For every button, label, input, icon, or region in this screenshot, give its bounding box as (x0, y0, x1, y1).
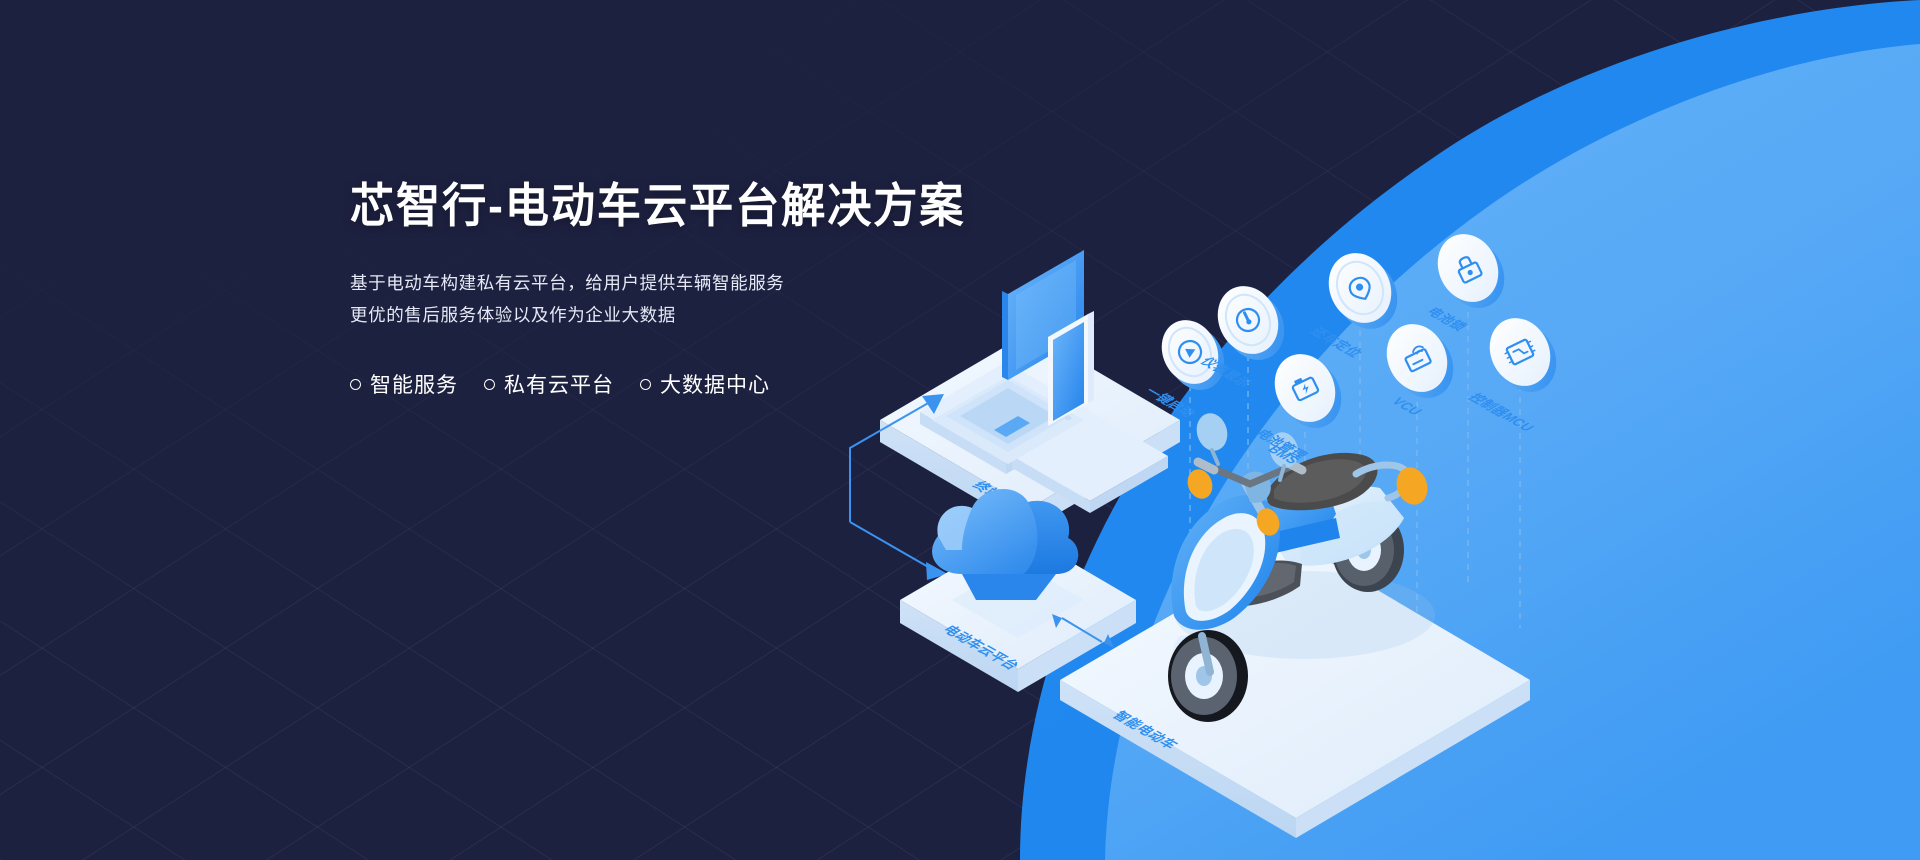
feature-item-smart-service[interactable]: 智能服务 (350, 369, 458, 399)
feature-label: 大数据中心 (660, 369, 770, 399)
circle-outline-icon (350, 379, 361, 390)
page-title: 芯智行-电动车云平台解决方案 (350, 180, 1064, 233)
feature-item-big-data-center[interactable]: 大数据中心 (640, 369, 770, 399)
feature-label: 私有云平台 (504, 369, 614, 399)
subtitle-block: 基于电动车构建私有云平台，给用户提供车辆智能服务 更优的售后服务体验以及作为企业… (350, 267, 1110, 332)
feature-label: 智能服务 (370, 369, 458, 399)
copy-column: 芯智行-电动车云平台解决方案 基于电动车构建私有云平台，给用户提供车辆智能服务 … (350, 180, 1110, 399)
circle-outline-icon (484, 379, 495, 390)
feature-item-private-cloud[interactable]: 私有云平台 (484, 369, 614, 399)
feature-list: 智能服务 私有云平台 大数据中心 (350, 369, 1110, 399)
banner-root: 芯智行-电动车云平台解决方案 基于电动车构建私有云平台，给用户提供车辆智能服务 … (0, 0, 1920, 860)
circle-outline-icon (640, 379, 651, 390)
blue-wave-decoration (0, 0, 1920, 860)
subtitle-line-1: 基于电动车构建私有云平台，给用户提供车辆智能服务 (350, 267, 1110, 299)
subtitle-line-2: 更优的售后服务体验以及作为企业大数据 (350, 299, 1110, 331)
